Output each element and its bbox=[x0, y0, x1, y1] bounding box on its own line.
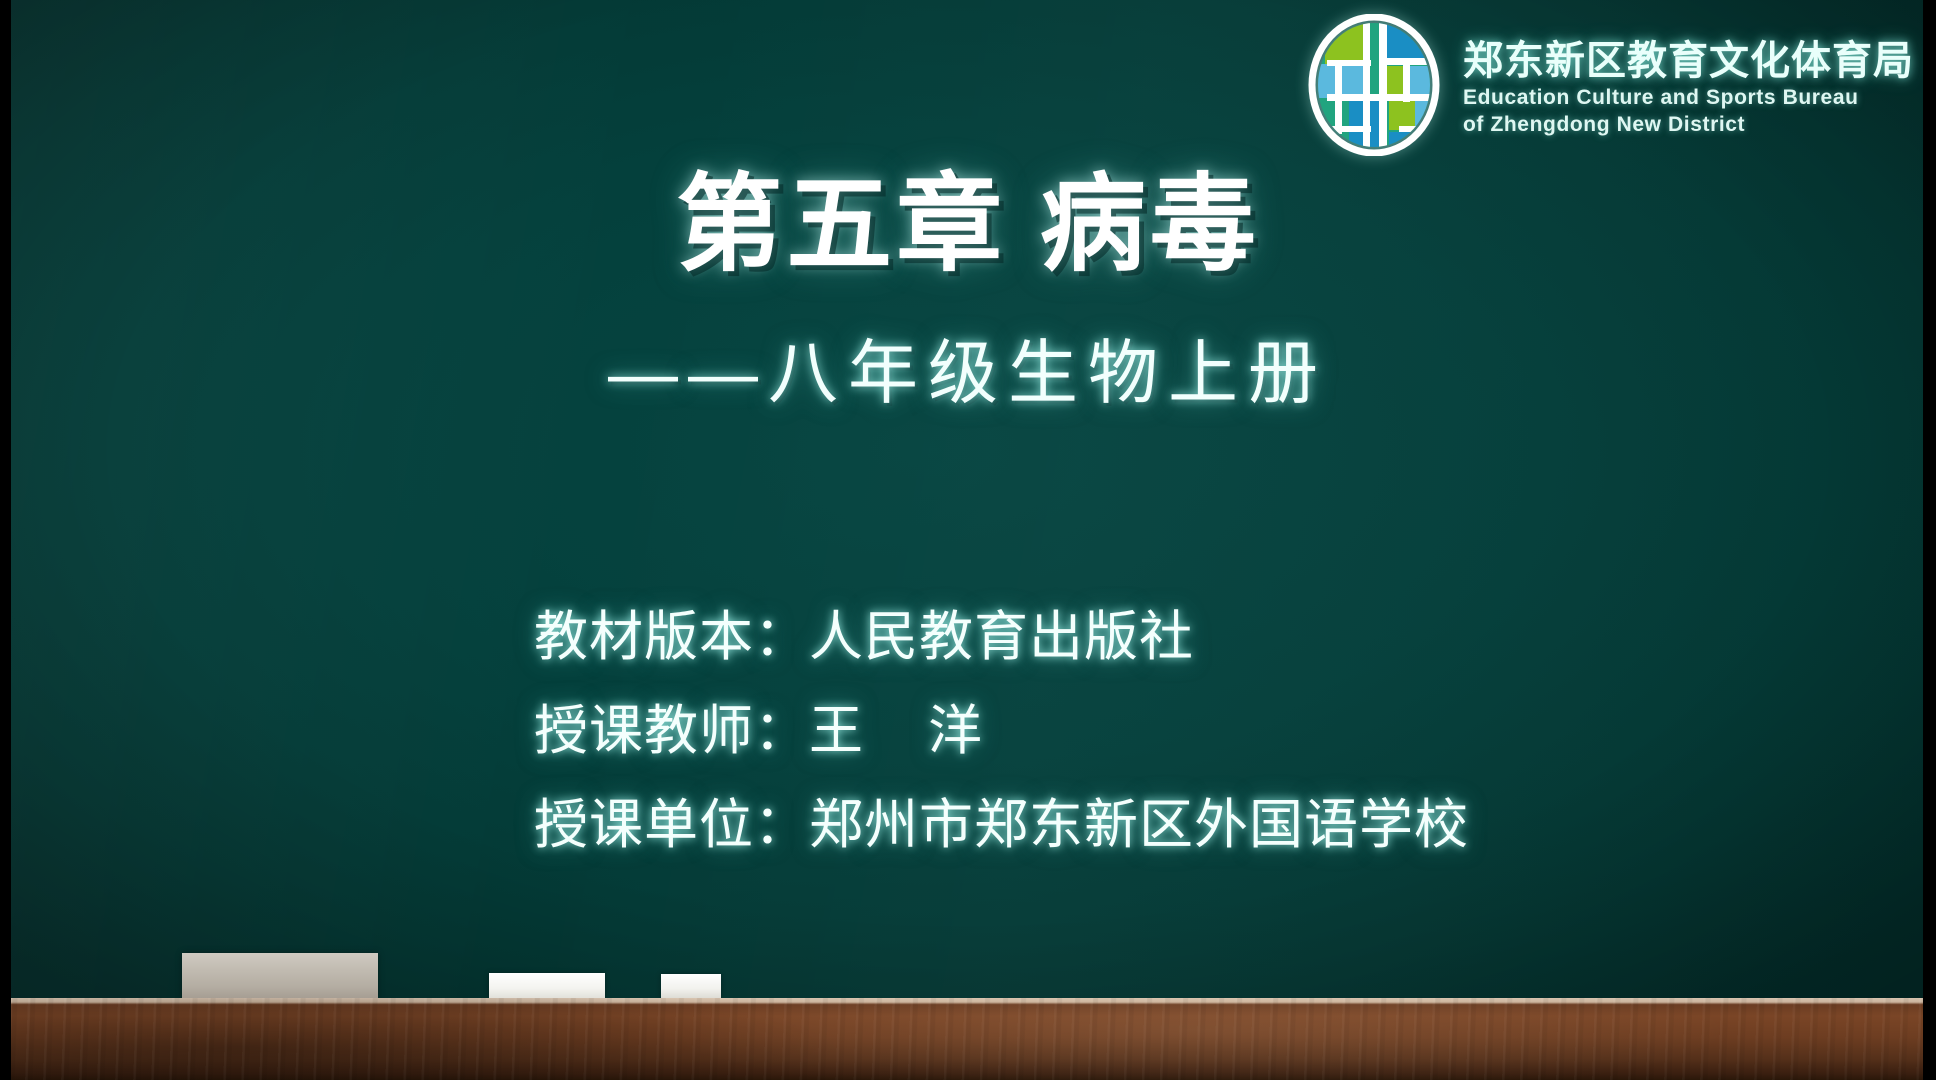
chalk-ledge bbox=[10, 998, 1924, 1080]
wood-grain-texture bbox=[10, 998, 1924, 1080]
presentation-slide: 郑东新区教育文化体育局 Education Culture and Sports… bbox=[0, 0, 1936, 1080]
right-letterbox-edge bbox=[1923, 0, 1936, 1080]
textbook-version-line: 教材版本：人民教育出版社 bbox=[534, 590, 1469, 684]
institution-line: 授课单位：郑州市郑东新区外国语学校 bbox=[534, 778, 1469, 872]
course-info-block: 教材版本：人民教育出版社 授课教师：王 洋 授课单位：郑州市郑东新区外国语学校 bbox=[534, 590, 1469, 872]
left-letterbox-edge bbox=[0, 0, 11, 1080]
organization-logo-text: 郑东新区教育文化体育局 Education Culture and Sports… bbox=[1463, 34, 1914, 136]
blackboard-eraser bbox=[182, 953, 378, 998]
organization-name-cn: 郑东新区教育文化体育局 bbox=[1463, 40, 1914, 83]
zhengdong-education-bureau-emblem-icon bbox=[1303, 14, 1445, 156]
chalk-stick-short bbox=[661, 974, 721, 998]
chalk-stick-long bbox=[489, 973, 605, 998]
instructor-line: 授课教师：王 洋 bbox=[534, 684, 1469, 778]
organization-name-en-line2: of Zhengdong New District bbox=[1463, 113, 1914, 137]
organization-name-en-line1: Education Culture and Sports Bureau bbox=[1463, 86, 1914, 110]
organization-logo: 郑东新区教育文化体育局 Education Culture and Sports… bbox=[1303, 14, 1914, 156]
